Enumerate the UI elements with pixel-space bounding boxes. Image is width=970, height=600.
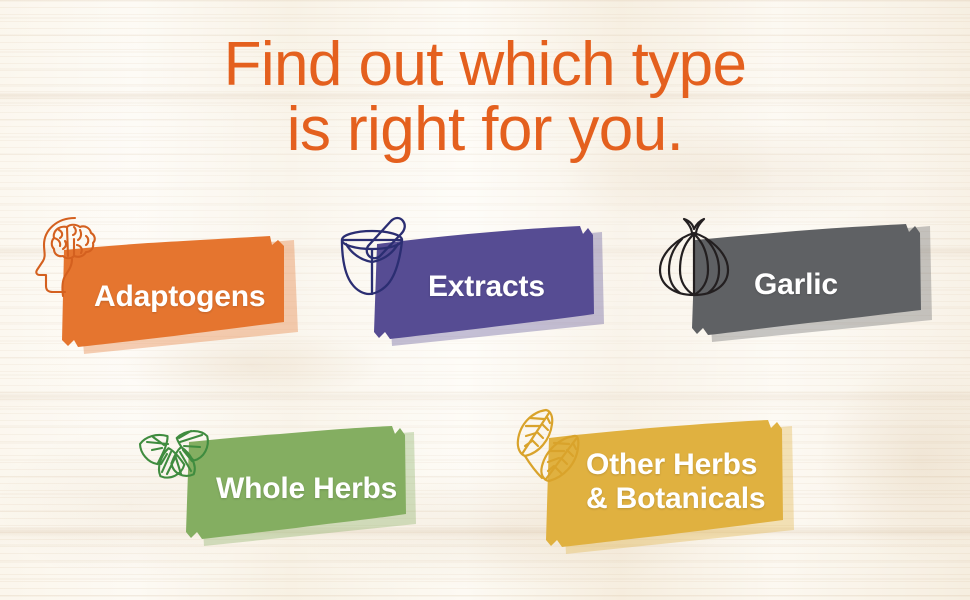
- card-label-adaptogens: Adaptogens: [94, 280, 265, 314]
- card-label-garlic: Garlic: [754, 268, 838, 302]
- wood-knot-5: [820, 360, 970, 560]
- card-label-other-herbs: Other Herbs & Botanicals: [586, 448, 765, 516]
- card-label-whole-herbs: Whole Herbs: [216, 472, 397, 506]
- headline-line-2: is right for you.: [0, 99, 970, 161]
- headline-line-1: Find out which type: [0, 34, 970, 96]
- garlic-bulb-icon: [652, 214, 732, 302]
- head-brain-icon: [34, 214, 112, 300]
- two-leaves-icon: [506, 398, 594, 488]
- basil-leaves-icon: [134, 404, 216, 490]
- card-whole-herbs[interactable]: Whole Herbs: [186, 424, 418, 550]
- banner-canvas: Find out which type is right for you. Ad…: [0, 0, 970, 600]
- mortar-pestle-icon: [336, 212, 418, 300]
- page-headline: Find out which type is right for you.: [0, 34, 970, 161]
- card-label-extracts: Extracts: [428, 270, 545, 304]
